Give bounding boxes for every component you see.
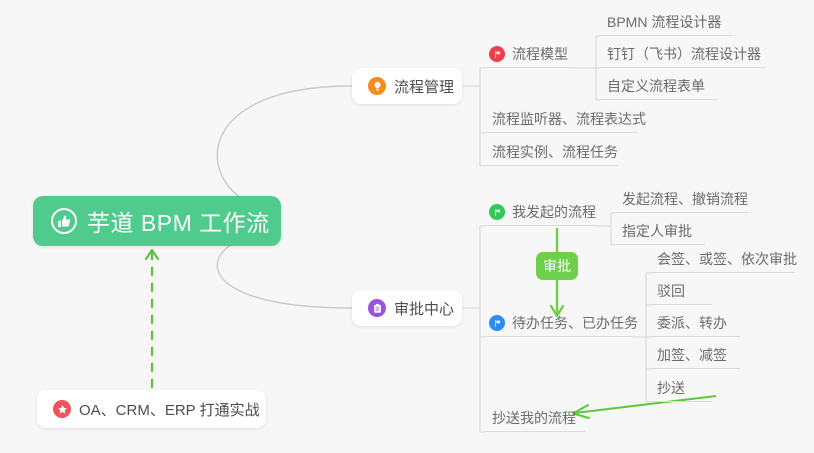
node-assignee-approval-label: 指定人审批 [622,221,692,241]
note-label: OA、CRM、ERP 打通实战 [79,399,260,420]
flag-icon [489,46,505,62]
mindmap-canvas: 芋道 BPM 工作流 OA、CRM、ERP 打通实战 流程管理 流程模 [0,0,814,453]
branch-process-management-label: 流程管理 [394,76,454,97]
node-custom-process-form[interactable]: 自定义流程表单 [600,73,718,100]
node-todo-done-tasks[interactable]: 待办任务、已办任务 [485,310,633,337]
node-reject[interactable]: 驳回 [650,278,712,305]
node-my-initiated-process-label: 我发起的流程 [512,202,596,222]
node-cc[interactable]: 抄送 [650,375,712,402]
node-cc-label: 抄送 [657,378,685,398]
node-start-cancel-process-label: 发起流程、撤销流程 [622,189,748,209]
star-icon [53,400,71,418]
branch-process-management[interactable]: 流程管理 [352,68,462,104]
edge-root-to-process-management [217,86,352,210]
node-add-remove-sign-label: 加签、减签 [657,345,727,365]
approval-flow-chip-label: 审批 [543,256,571,276]
node-start-cancel-process[interactable]: 发起流程、撤销流程 [615,186,748,213]
node-multi-sign-approval-label: 会签、或签、依次审批 [657,249,797,269]
node-cc-my-process[interactable]: 抄送我的流程 [485,405,585,432]
node-assignee-approval[interactable]: 指定人审批 [615,218,705,245]
approval-flow-chip[interactable]: 审批 [536,252,578,280]
node-add-remove-sign[interactable]: 加签、减签 [650,342,740,369]
thumbs-up-icon [51,208,77,234]
node-my-initiated-process[interactable]: 我发起的流程 [485,199,595,226]
node-cc-my-process-label: 抄送我的流程 [492,408,576,428]
node-delegate-transfer-label: 委派、转办 [657,313,727,333]
node-todo-done-tasks-label: 待办任务、已办任务 [512,313,638,333]
branch-approval-center-label: 审批中心 [394,298,454,319]
node-process-model[interactable]: 流程模型 [485,41,570,68]
node-dingtalk-feishu-designer[interactable]: 钉钉（飞书）流程设计器 [600,41,766,68]
node-reject-label: 驳回 [657,281,685,301]
flag-icon [489,204,505,220]
clipboard-icon [368,299,386,317]
root-label: 芋道 BPM 工作流 [87,204,270,238]
root-node[interactable]: 芋道 BPM 工作流 [33,196,281,246]
dashed-arrow-head [146,250,158,259]
branch-approval-center[interactable]: 审批中心 [352,290,462,326]
node-process-listener-label: 流程监听器、流程表达式 [492,109,646,129]
node-process-listener[interactable]: 流程监听器、流程表达式 [485,106,638,133]
node-process-instance[interactable]: 流程实例、流程任务 [485,139,618,166]
node-delegate-transfer[interactable]: 委派、转办 [650,310,740,337]
node-dingtalk-feishu-designer-label: 钉钉（飞书）流程设计器 [607,44,761,64]
node-process-instance-label: 流程实例、流程任务 [492,142,618,162]
node-bpmn-designer[interactable]: BPMN 流程设计器 [600,9,732,36]
lightbulb-icon [368,77,386,95]
node-bpmn-designer-label: BPMN 流程设计器 [607,12,721,32]
note-node-oa-crm-erp[interactable]: OA、CRM、ERP 打通实战 [37,390,266,428]
node-process-model-label: 流程模型 [512,44,568,64]
flag-icon [489,315,505,331]
node-multi-sign-approval[interactable]: 会签、或签、依次审批 [650,246,795,273]
node-custom-process-form-label: 自定义流程表单 [607,76,705,96]
